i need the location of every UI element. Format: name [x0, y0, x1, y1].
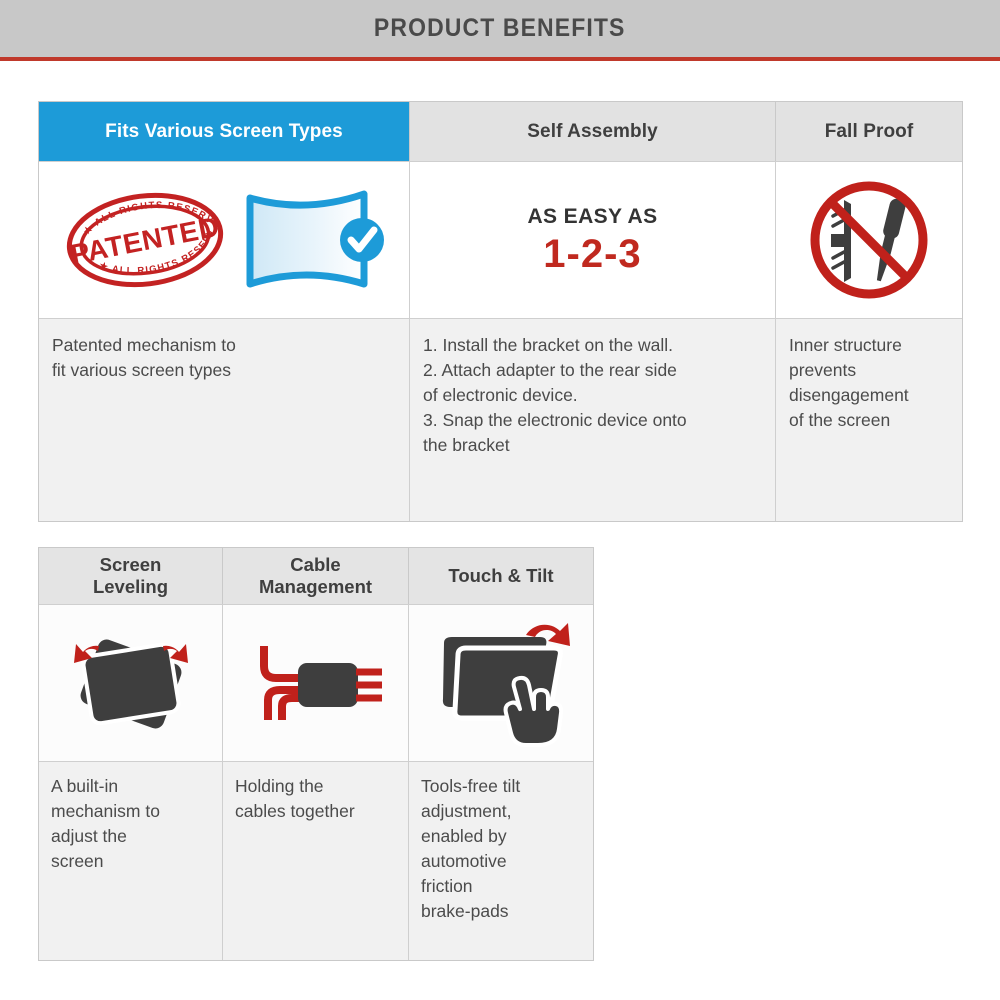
- column-header-label: Fall Proof: [825, 121, 914, 143]
- column-header-cable-management: Cable Management: [222, 548, 408, 604]
- cable-management-icon: [246, 628, 386, 738]
- body-line: 3. Snap the electronic device onto: [423, 408, 762, 433]
- body-line: cables together: [235, 799, 396, 824]
- header-red-rule: [0, 57, 1000, 61]
- body-line: adjustment,: [421, 799, 581, 824]
- benefits-table-primary: Fits Various Screen Types Self Assembly …: [38, 101, 963, 522]
- body-cell-fall-proof: Inner structure prevents disengagement o…: [775, 319, 962, 521]
- icon-cell-self-assembly: AS EASY AS 1-2-3: [409, 162, 775, 318]
- body-line: enabled by: [421, 824, 581, 849]
- body-line: Holding the: [235, 774, 396, 799]
- column-header-self-assembly: Self Assembly: [409, 102, 775, 161]
- body-line: 2. Attach adapter to the rear side: [423, 358, 762, 383]
- body-line: brake-pads: [421, 899, 581, 924]
- page-header: PRODUCT BENEFITS: [0, 0, 1000, 57]
- table-body-row: Patented mechanism to fit various screen…: [39, 318, 962, 521]
- as-easy-as-label: AS EASY AS: [527, 206, 657, 227]
- body-cell-self-assembly: 1. Install the bracket on the wall. 2. A…: [409, 319, 775, 521]
- body-line: screen: [51, 849, 210, 874]
- icon-cell-touch-and-tilt: [408, 605, 593, 761]
- screen-leveling-rotate-icon: [66, 618, 196, 748]
- icon-cell-screen-leveling: [39, 605, 222, 761]
- column-header-label-line1: Touch & Tilt: [448, 565, 553, 587]
- no-tools-prohibition-icon: [806, 177, 932, 303]
- body-line: adjust the: [51, 824, 210, 849]
- body-cell-cable-management: Holding the cables together: [222, 762, 408, 960]
- body-line: 1. Install the bracket on the wall.: [423, 333, 762, 358]
- body-line: prevents: [789, 358, 949, 383]
- icon-cell-cable-management: [222, 605, 408, 761]
- column-header-touch-and-tilt: Touch & Tilt: [408, 548, 593, 604]
- body-line: Tools-free tilt: [421, 774, 581, 799]
- body-line: Inner structure: [789, 333, 949, 358]
- body-cell-fits-various-screen-types: Patented mechanism to fit various screen…: [39, 319, 409, 521]
- body-line: A built-in: [51, 774, 210, 799]
- body-line: Patented mechanism to: [52, 333, 396, 358]
- column-header-label-line2: Leveling: [93, 576, 168, 597]
- body-line: of electronic device.: [423, 383, 762, 408]
- table-header-row: Fits Various Screen Types Self Assembly …: [39, 102, 962, 161]
- page-title: PRODUCT BENEFITS: [374, 14, 626, 43]
- icon-cell-fall-proof: [775, 162, 962, 318]
- body-line: fit various screen types: [52, 358, 396, 383]
- column-header-label: Fits Various Screen Types: [105, 121, 343, 143]
- one-two-three-label: 1-2-3: [527, 234, 657, 274]
- column-header-screen-leveling: Screen Leveling: [39, 548, 222, 604]
- column-header-label-line2: Management: [259, 576, 372, 597]
- body-line: of the screen: [789, 408, 949, 433]
- body-cell-touch-and-tilt: Tools-free tilt adjustment, enabled by a…: [408, 762, 593, 960]
- benefits-table-secondary: Screen Leveling Cable Management Touch &…: [38, 547, 594, 961]
- table-body-row: A built-in mechanism to adjust the scree…: [39, 761, 593, 960]
- table-header-row: Screen Leveling Cable Management Touch &…: [39, 548, 593, 604]
- column-header-fall-proof: Fall Proof: [775, 102, 962, 161]
- svg-text:PATENTED: PATENTED: [68, 211, 222, 270]
- column-header-label: Self Assembly: [527, 121, 658, 143]
- table-icon-row: [39, 604, 593, 761]
- body-line: friction: [421, 874, 581, 899]
- table-icon-row: ★ ALL RIGHTS RESERVED ★ ★ ALL RIGHTS RES…: [39, 161, 962, 318]
- touch-and-tilt-hand-icon: [428, 617, 574, 749]
- column-header-label-line1: Cable: [290, 554, 340, 575]
- body-line: the bracket: [423, 433, 762, 458]
- patented-stamp-icon: ★ ALL RIGHTS RESERVED ★ ★ ALL RIGHTS RES…: [56, 185, 234, 295]
- column-header-fits-various-screen-types: Fits Various Screen Types: [39, 102, 409, 161]
- as-easy-as-123-icon: AS EASY AS 1-2-3: [527, 206, 657, 274]
- body-line: automotive: [421, 849, 581, 874]
- column-header-label-line1: Screen: [100, 554, 162, 575]
- body-line: disengagement: [789, 383, 949, 408]
- body-line: mechanism to: [51, 799, 210, 824]
- body-cell-screen-leveling: A built-in mechanism to adjust the scree…: [39, 762, 222, 960]
- curved-screen-check-icon: [240, 184, 392, 296]
- icon-cell-fits-various-screen-types: ★ ALL RIGHTS RESERVED ★ ★ ALL RIGHTS RES…: [39, 162, 409, 318]
